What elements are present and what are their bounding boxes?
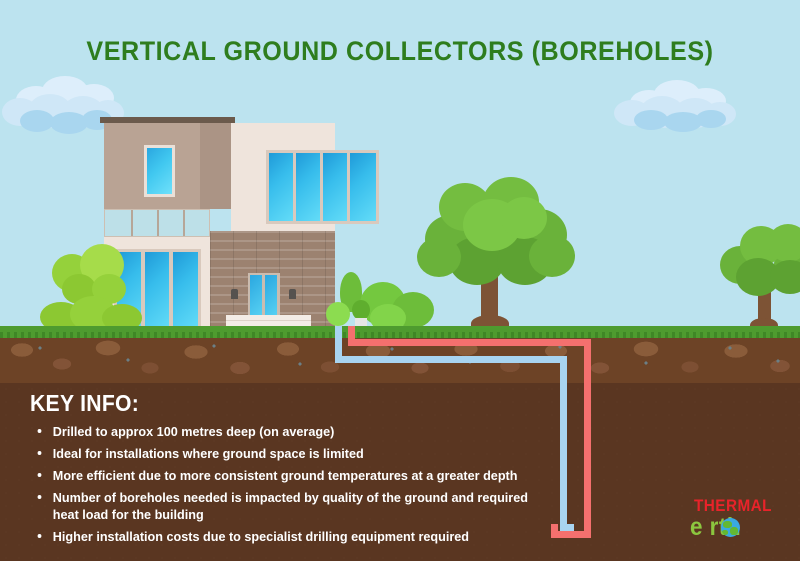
cloud-puff (20, 110, 54, 132)
key-info-list: Drilled to approx 100 metres deep (on av… (30, 423, 570, 545)
house-upper-left-shade (200, 123, 231, 209)
plant-foliage (352, 300, 370, 320)
tree-foliage (501, 197, 547, 239)
wall-lamp-icon (231, 289, 238, 299)
cloud-puff (696, 110, 726, 128)
tree-foliage (417, 237, 461, 277)
list-item: Drilled to approx 100 metres deep (on av… (30, 423, 543, 440)
pipe-return-blue-riser (335, 326, 342, 358)
page-title: VERTICAL GROUND COLLECTORS (BOREHOLES) (28, 36, 772, 67)
balcony-rail (183, 210, 185, 236)
window-pane (350, 153, 376, 221)
window-pane (323, 153, 347, 221)
list-item: Number of boreholes needed is impacted b… (30, 489, 543, 523)
shrub-left (40, 240, 150, 332)
house-window-large (266, 150, 379, 224)
pipe-flow-red-vertical (584, 339, 591, 538)
window-pane (296, 153, 320, 221)
wall-lamp-icon (289, 289, 296, 299)
house-balcony-glass (104, 209, 210, 237)
cloud-right (614, 80, 736, 132)
window-pane (173, 252, 198, 330)
globe-icon (721, 518, 740, 537)
list-item: Higher installation costs due to special… (30, 528, 543, 545)
cloud-puff (634, 110, 668, 130)
tree-foliage (529, 235, 575, 277)
tree-foliage (768, 224, 800, 262)
thermal-earth-logo[interactable]: THERMAL e rth (690, 496, 786, 546)
key-info-panel: KEY INFO: Drilled to approx 100 metres d… (30, 390, 570, 550)
pipe-flow-red-horizontal (348, 339, 591, 346)
tree-right (718, 222, 800, 332)
shrub-pipe-head (326, 272, 436, 332)
infographic-canvas: VERTICAL GROUND COLLECTORS (BOREHOLES) (0, 0, 800, 561)
house-window-upper-small (144, 145, 175, 197)
list-item: Ideal for installations where ground spa… (30, 445, 543, 462)
balcony-rail (157, 210, 159, 236)
list-item: More efficient due to more consistent gr… (30, 467, 543, 484)
key-info-heading: KEY INFO: (30, 390, 527, 417)
bush-foliage (326, 302, 350, 326)
window-pane (269, 153, 293, 221)
pipe-return-blue-horizontal (335, 356, 567, 363)
balcony-rail (131, 210, 133, 236)
